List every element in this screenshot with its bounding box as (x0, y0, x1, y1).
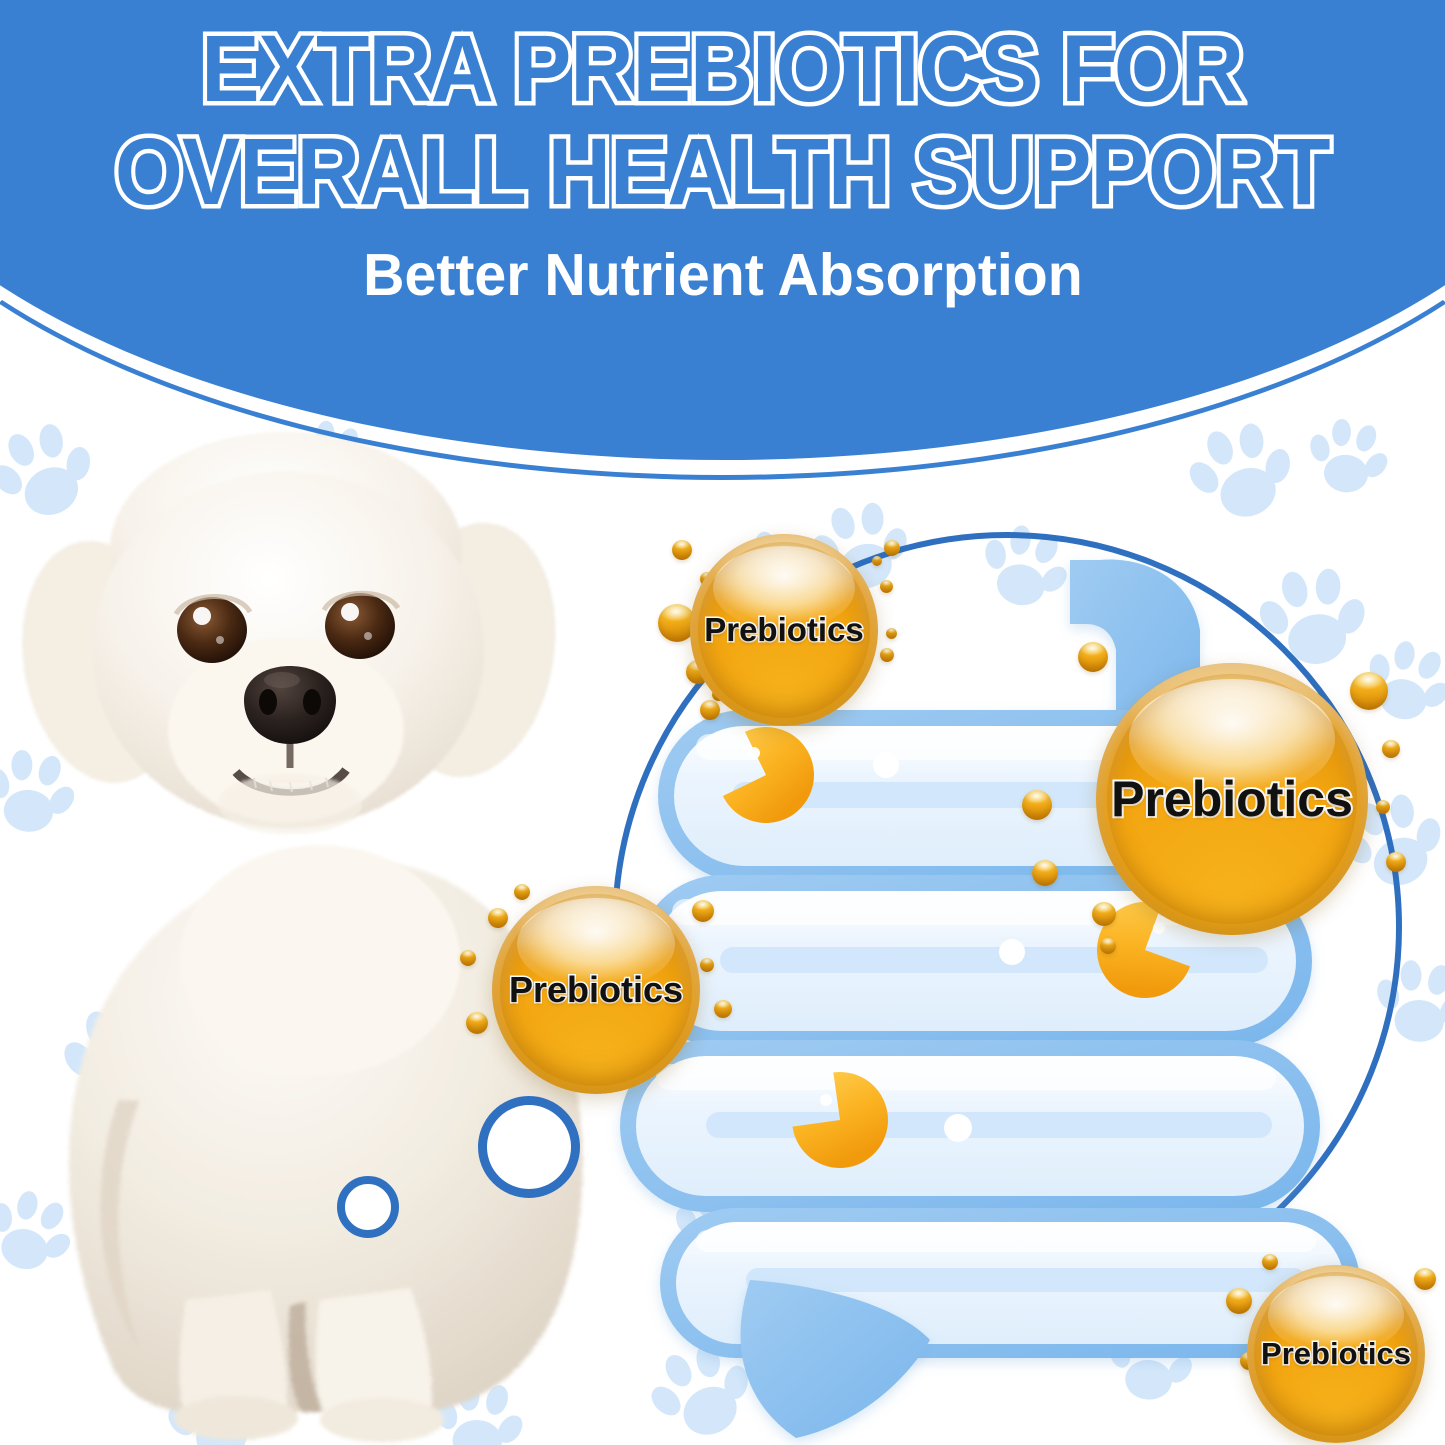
headline-line-1: EXTRA PREBIOTICS FOR (202, 18, 1244, 121)
prebiotics-sphere-large: Prebiotics (1096, 663, 1368, 935)
accent-ring-large (478, 1096, 580, 1198)
prebiotics-label: Prebiotics (704, 611, 864, 649)
product-marketing-image: Prebiotics Prebiotics Prebiotics Prebiot… (0, 0, 1445, 1445)
accent-ring-small (337, 1176, 399, 1238)
droplet (1376, 800, 1390, 814)
droplet (872, 556, 882, 566)
droplet (1414, 1268, 1436, 1290)
prebiotics-sphere-bottom-right: Prebiotics (1247, 1265, 1425, 1443)
droplet (700, 958, 714, 972)
prebiotics-label: Prebiotics (1111, 770, 1353, 828)
droplet (1382, 740, 1400, 758)
droplet (466, 1012, 488, 1034)
droplet (1262, 1254, 1278, 1270)
droplet (700, 700, 720, 720)
prebiotics-label: Prebiotics (1261, 1336, 1411, 1372)
droplet (692, 900, 714, 922)
droplet (886, 628, 897, 639)
headline-line-2: OVERALL HEALTH SUPPORT (115, 121, 1330, 224)
droplet (460, 950, 476, 966)
droplet (1100, 938, 1116, 954)
droplet (1092, 902, 1116, 926)
droplet (488, 908, 508, 928)
droplet (1022, 790, 1052, 820)
droplet (1350, 672, 1388, 710)
droplet (1078, 642, 1108, 672)
droplet (1032, 860, 1058, 886)
header-text-group: EXTRA PREBIOTICS FOR OVERALL HEALTH SUPP… (0, 0, 1445, 400)
droplet (880, 648, 894, 662)
droplet (1226, 1288, 1252, 1314)
droplet (880, 580, 893, 593)
prebiotics-label: Prebiotics (509, 969, 683, 1011)
prebiotics-sphere-top: Prebiotics (690, 534, 878, 726)
droplet (884, 540, 900, 556)
droplet (714, 1000, 732, 1018)
droplet (672, 540, 692, 560)
prebiotics-sphere-left: Prebiotics (492, 886, 700, 1094)
droplet (1386, 852, 1406, 872)
subheadline: Better Nutrient Absorption (363, 241, 1083, 309)
droplet (514, 884, 530, 900)
